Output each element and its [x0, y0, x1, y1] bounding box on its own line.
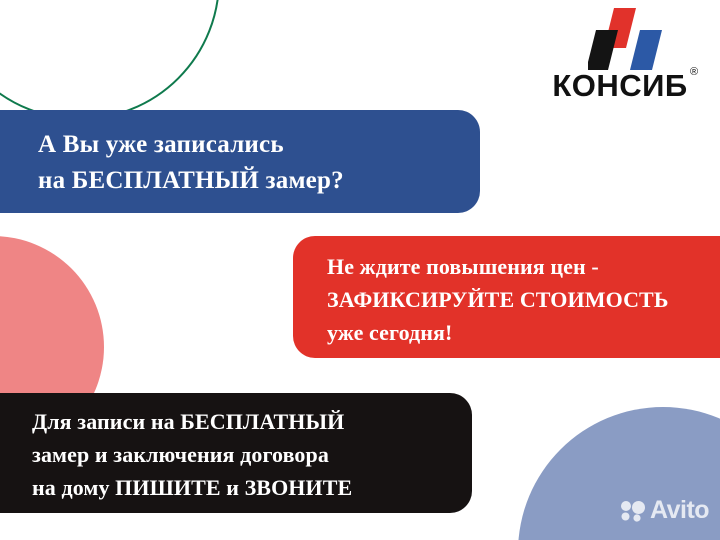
banner-blue-line-1: А Вы уже записались [38, 127, 480, 163]
banner-blue-line-2: на БЕСПЛАТНЫЙ замер? [38, 163, 480, 199]
avito-dots-icon [620, 500, 646, 522]
banner-black-line-3: на дому ПИШИТЕ и ЗВОНИТЕ [32, 471, 472, 504]
registered-trademark-mark: ® [690, 66, 698, 78]
avito-watermark: Avito [620, 498, 709, 523]
avito-watermark-text: Avito [650, 498, 709, 523]
konsib-parallelogram-logo-icon [588, 8, 666, 70]
brand-wordmark: КОНСИБ [530, 70, 710, 101]
promo-poster: КОНСИБ ® А Вы уже записались на БЕСПЛАТН… [0, 0, 720, 540]
banner-red-line-3: уже сегодня! [327, 316, 720, 349]
contact-banner-black: Для записи на БЕСПЛАТНЫЙ замер и заключе… [0, 393, 472, 513]
banner-red-line-2: ЗАФИКСИРУЙТЕ СТОИМОСТЬ [327, 283, 720, 316]
banner-black-line-1: Для записи на БЕСПЛАТНЫЙ [32, 405, 472, 438]
green-ring-decoration [0, 0, 220, 120]
offer-banner-red: Не ждите повышения цен - ЗАФИКСИРУЙТЕ СТ… [293, 236, 720, 358]
banner-red-line-1: Не ждите повышения цен - [327, 250, 720, 283]
brand-logo: КОНСИБ ® [530, 8, 710, 108]
headline-banner-blue: А Вы уже записались на БЕСПЛАТНЫЙ замер? [0, 110, 480, 213]
banner-black-line-2: замер и заключения договора [32, 438, 472, 471]
